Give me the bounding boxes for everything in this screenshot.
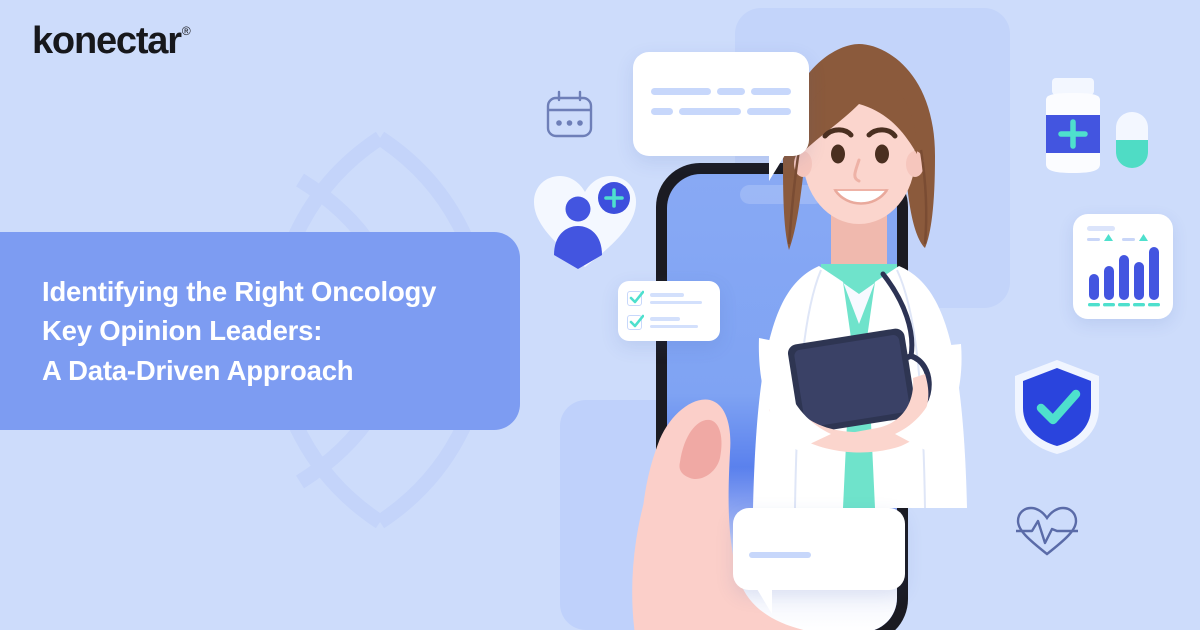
chat-bubble-bottom: [733, 508, 905, 590]
bubble-tail: [769, 155, 785, 181]
bar-chart-card: [1073, 214, 1173, 319]
hand-holding-phone: [540, 382, 940, 630]
checklist-text-lines: [650, 293, 711, 304]
checklist-item: [627, 291, 711, 306]
title-banner: Identifying the Right Oncology Key Opini…: [0, 232, 520, 430]
checklist-text-lines: [650, 317, 711, 328]
heart-patient-icon: [530, 172, 640, 272]
bubble-text-line: [749, 552, 811, 558]
medicine-bottle-icon: [1028, 76, 1153, 176]
chat-bubble-top: [633, 52, 809, 156]
checklist-item: [627, 315, 711, 330]
bubble-text-line: [717, 88, 745, 95]
title-line-2: Key Opinion Leaders:: [42, 311, 494, 350]
bubble-text-line: [679, 108, 741, 115]
registered-trademark-icon: ®: [182, 24, 191, 38]
bubble-text-line: [747, 108, 791, 115]
bubble-text-line: [651, 108, 673, 115]
checkbox-checked-icon: [627, 315, 642, 330]
bubble-text-line: [651, 88, 711, 95]
brand-logo-text: konectar: [32, 22, 181, 60]
shield-check-icon: [1012, 358, 1102, 456]
brand-logo[interactable]: konectar ®: [32, 22, 191, 60]
bubble-tail: [757, 589, 772, 614]
title-line-1: Identifying the Right Oncology: [42, 272, 494, 311]
bubble-text-line: [751, 88, 791, 95]
checklist-card: [618, 281, 720, 341]
calendar-icon: [542, 90, 597, 142]
checkbox-checked-icon: [627, 291, 642, 306]
heartbeat-icon: [1016, 505, 1078, 557]
social-card-canvas: konectar ®: [0, 0, 1200, 630]
title-line-3: A Data-Driven Approach: [42, 351, 494, 390]
